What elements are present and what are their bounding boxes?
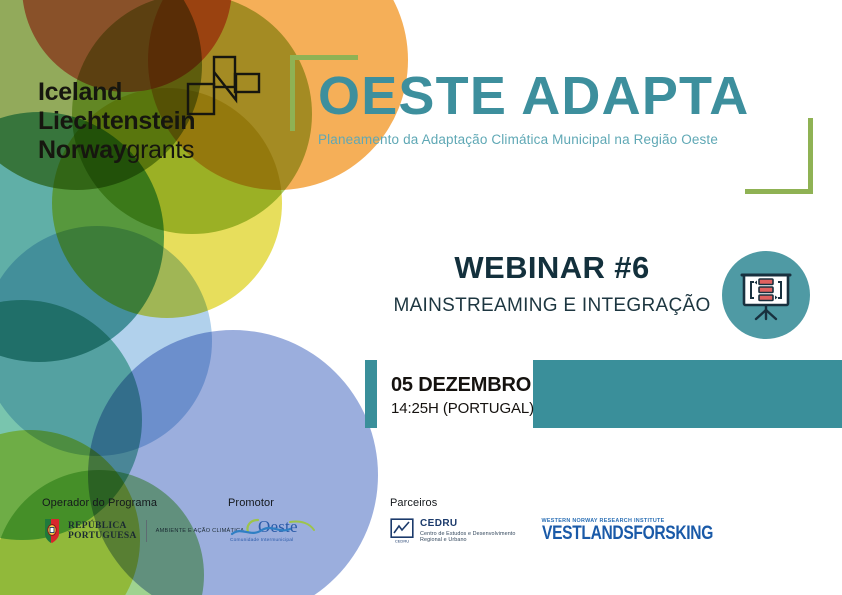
footer-heading-parceiros: Parceiros: [390, 497, 750, 509]
republica-portuguesa-logo: REPÚBLICA PORTUGUESA AMBIENTE E AÇÃO CLI…: [42, 518, 244, 544]
oeste-cim-logo: Oeste Comunidade Intermunicipal: [228, 518, 324, 543]
cedru-wordmark: CEDRU: [420, 518, 516, 529]
grants-logo-line-3: Norwaygrants: [38, 136, 288, 165]
presentation-flowchart-icon: [722, 251, 810, 339]
oeste-swoosh-icon: [228, 516, 324, 540]
rp-line-1: REPÚBLICA: [68, 521, 137, 532]
cedru-logo: CEDRU CEDRU Centro de Estudos e Desenvol…: [390, 518, 516, 544]
footer-group-operador: Operador do Programa REPÚBLICA PORTUGUES…: [42, 497, 244, 544]
webinar-topic: MAINSTREAMING E INTEGRAÇÃO: [392, 295, 712, 317]
norway-grants-logo: Iceland Liechtenstein Norwaygrants: [38, 78, 288, 165]
cedru-text: CEDRU Centro de Estudos e Desenvolviment…: [420, 518, 516, 543]
webinar-poster: Iceland Liechtenstein Norwaygrants OESTE…: [0, 0, 842, 595]
bubble-lightblue: [0, 226, 212, 456]
footer-group-parceiros: Parceiros CEDRU CEDRU Centro de Estudos …: [390, 497, 750, 544]
page-title: OESTE ADAPTA: [318, 68, 788, 124]
vestlandsforsking-wordmark: VESTLANDSFORSKING: [542, 524, 713, 544]
logo-divider: [146, 520, 147, 542]
footer-heading-promotor: Promotor: [228, 497, 324, 509]
event-date-band: 05 DEZEMBRO 14:25H (PORTUGAL): [365, 360, 842, 428]
footer-group-promotor: Promotor Oeste Comunidade Intermunicipal: [228, 497, 324, 543]
headline-block: OESTE ADAPTA Planeamento da Adaptação Cl…: [318, 68, 788, 147]
norway-grants-mark: [186, 52, 262, 123]
cedru-tagline-line-2: Regional e Urbano: [420, 537, 516, 543]
footer-heading-operador: Operador do Programa: [42, 497, 244, 509]
webinar-title: WEBINAR #6: [392, 250, 712, 286]
portugal-shield-icon: [42, 518, 62, 544]
event-time: 14:25H (PORTUGAL): [391, 400, 533, 417]
partner-logo-row: CEDRU CEDRU Centro de Estudos e Desenvol…: [390, 518, 750, 544]
bubble-blue-large: [88, 330, 378, 595]
event-date: 05 DEZEMBRO: [391, 374, 533, 397]
vestlandsforsking-logo: WESTERN NORWAY RESEARCH INSTITUTE VESTLA…: [542, 518, 751, 544]
webinar-block: WEBINAR #6 MAINSTREAMING E INTEGRAÇÃO: [392, 250, 712, 317]
cedru-tagline: Centro de Estudos e Desenvolvimento Regi…: [420, 531, 516, 544]
page-subtitle: Planeamento da Adaptação Climática Munic…: [318, 132, 788, 147]
event-date-panel: 05 DEZEMBRO 14:25H (PORTUGAL): [377, 360, 533, 428]
grants-logo-norway: Norway: [38, 136, 127, 164]
cedru-chart-icon: CEDRU: [390, 518, 414, 544]
svg-text:CEDRU: CEDRU: [395, 539, 409, 544]
grants-logo-grants: grants: [127, 136, 195, 164]
republica-portuguesa-wordmark: REPÚBLICA PORTUGUESA: [68, 521, 137, 542]
rp-line-2: PORTUGUESA: [68, 531, 137, 542]
